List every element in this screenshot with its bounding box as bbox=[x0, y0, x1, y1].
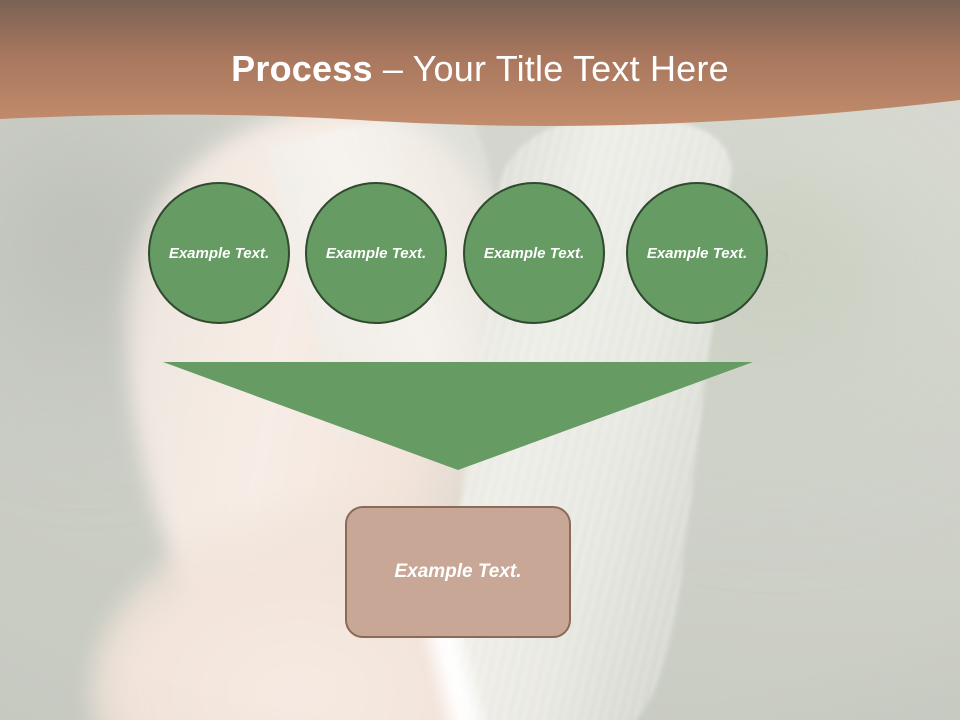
process-circle-4[interactable]: Example Text. bbox=[626, 182, 768, 324]
process-circle-1[interactable]: Example Text. bbox=[148, 182, 290, 324]
process-circle-3-label: Example Text. bbox=[482, 243, 586, 264]
result-box[interactable]: Example Text. bbox=[345, 506, 571, 638]
presentation-slide: Process – Your Title Text Here Example T… bbox=[0, 0, 960, 720]
process-circle-4-label: Example Text. bbox=[645, 243, 749, 264]
process-circle-2-label: Example Text. bbox=[324, 243, 428, 264]
process-circle-2[interactable]: Example Text. bbox=[305, 182, 447, 324]
page-title: Process – Your Title Text Here bbox=[0, 47, 960, 91]
page-title-rest: – Your Title Text Here bbox=[373, 48, 729, 89]
page-title-bold: Process bbox=[231, 48, 373, 89]
down-arrow-icon[interactable] bbox=[163, 362, 753, 470]
process-circle-1-label: Example Text. bbox=[167, 243, 271, 264]
process-circle-3[interactable]: Example Text. bbox=[463, 182, 605, 324]
result-box-label: Example Text. bbox=[394, 561, 521, 583]
